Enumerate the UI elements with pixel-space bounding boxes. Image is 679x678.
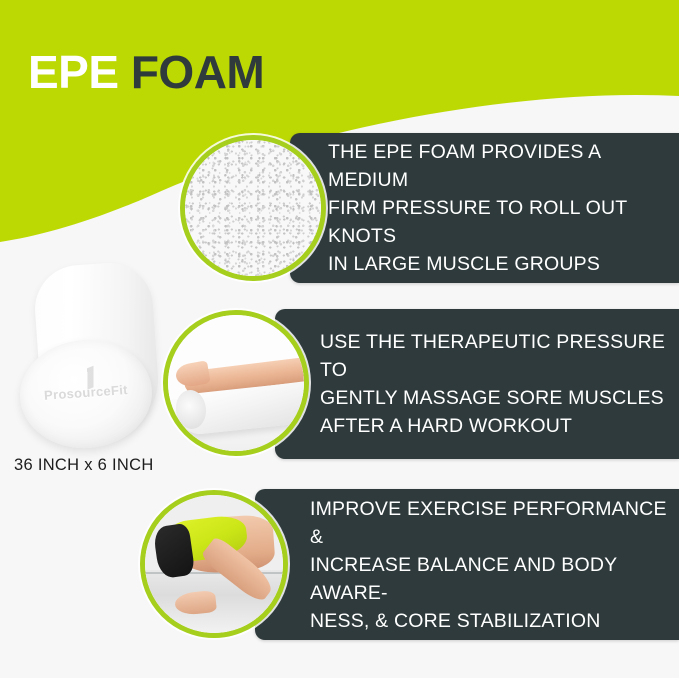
- leg-roller-scene: [168, 315, 304, 451]
- brand-emboss-text: ProsourceFit: [20, 381, 153, 405]
- feature-text-2: USE THE THERAPEUTIC PRESSURE TO GENTLY M…: [320, 328, 667, 440]
- foam-roller-product-photo: ProsourceFit: [12, 268, 168, 450]
- leg-on-foam-roller-photo: [168, 315, 304, 451]
- feature-image-3: [140, 490, 288, 638]
- core-exercise-scene: [145, 495, 283, 633]
- page-title-part-1: EPE: [28, 46, 119, 98]
- foam-texture-fill: [185, 140, 321, 276]
- feature-text-3: IMPROVE EXERCISE PERFORMANCE & INCREASE …: [310, 495, 667, 635]
- infographic-canvas: EPE FOAM THE EPE FOAM PROVIDES A MEDIUM …: [0, 0, 679, 678]
- feature-panel-1: THE EPE FOAM PROVIDES A MEDIUM FIRM PRES…: [290, 133, 679, 283]
- feature-image-2: [163, 310, 309, 456]
- page-title: EPE FOAM: [28, 49, 264, 95]
- page-title-part-2: FOAM: [131, 46, 264, 98]
- core-exercise-plank-photo: [145, 495, 283, 633]
- feature-image-1: [180, 135, 326, 281]
- foam-texture-closeup-photo: [185, 140, 321, 276]
- product-dimensions-caption: 36 INCH x 6 INCH: [14, 456, 154, 475]
- feature-panel-2: USE THE THERAPEUTIC PRESSURE TO GENTLY M…: [275, 309, 679, 459]
- feature-panel-3: IMPROVE EXERCISE PERFORMANCE & INCREASE …: [255, 489, 679, 640]
- feature-text-1: THE EPE FOAM PROVIDES A MEDIUM FIRM PRES…: [328, 138, 667, 278]
